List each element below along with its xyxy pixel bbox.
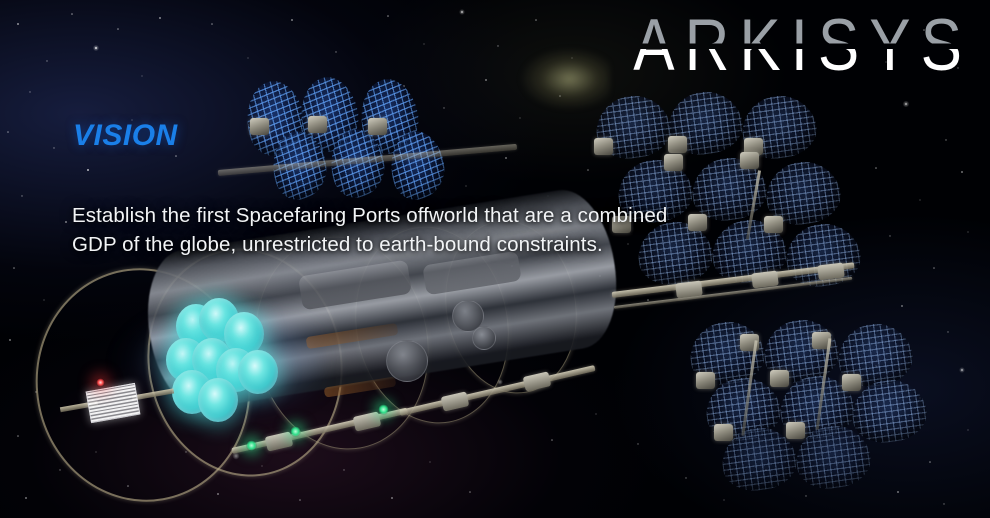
array-mount [250, 118, 269, 135]
hull-port [386, 340, 428, 382]
hull-port [472, 326, 496, 350]
status-light-green [290, 426, 301, 437]
status-light-green [378, 404, 389, 415]
dish-mount [842, 374, 861, 391]
dish-mount [714, 424, 733, 441]
vision-slide: ARKISYS VISION Establish the first Space… [0, 0, 990, 518]
vision-body-line-1: Establish the first Spacefaring Ports of… [72, 204, 667, 227]
engine-nozzle [198, 378, 238, 422]
dish-mount [664, 154, 683, 171]
vision-body-text: Establish the first Spacefaring Ports of… [72, 201, 792, 259]
status-light-green [246, 440, 257, 451]
dish-mount [668, 136, 687, 153]
dish-mount [786, 422, 805, 439]
truss-node [751, 270, 779, 288]
truss-node [675, 280, 703, 298]
dish-mount [696, 372, 715, 389]
array-mount [308, 116, 327, 133]
dish-mount [740, 152, 759, 169]
vision-body-line-2: GDP of the globe, unrestricted to earth-… [72, 233, 603, 256]
nebula-cloud [520, 48, 610, 110]
engine-nozzle [238, 350, 278, 394]
dish-mount [770, 370, 789, 387]
array-mount [368, 118, 387, 135]
truss-node [817, 262, 845, 280]
page-title: VISION [73, 119, 178, 153]
beacon-light-red [96, 378, 105, 387]
dish-mount [594, 138, 613, 155]
arkisys-logo: ARKISYS [633, 10, 972, 83]
